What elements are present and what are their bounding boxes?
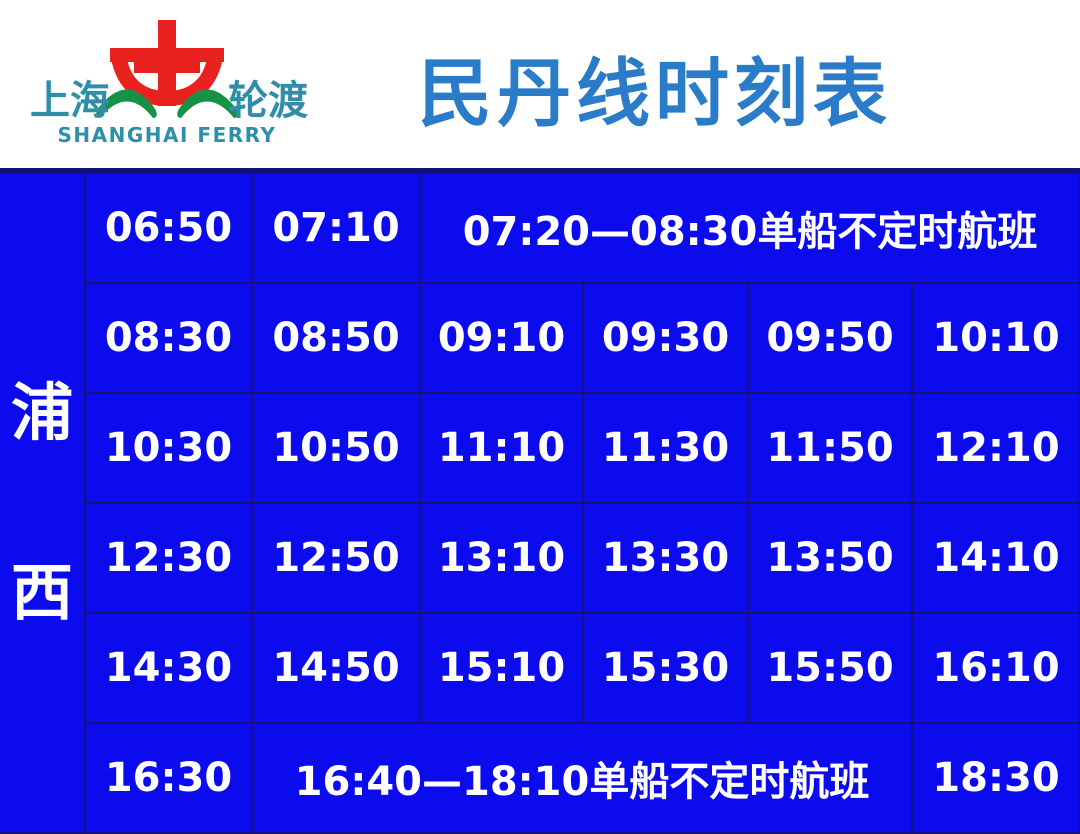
departure-time-cell: 14:50 — [252, 613, 420, 723]
departure-time-cell: 13:30 — [583, 503, 748, 613]
departure-time-cell: 06:50 — [85, 173, 252, 283]
departure-time-cell: 12:30 — [85, 503, 252, 613]
departure-time-cell: 11:10 — [420, 393, 583, 503]
direction-label: 浦西 — [0, 193, 84, 813]
table-row: 16:3016:40—18:10单船不定时航班18:30 — [0, 723, 1080, 833]
departure-time-cell: 16:10 — [912, 613, 1080, 723]
table-row: 浦西06:5007:1007:20—08:30单船不定时航班 — [0, 173, 1080, 283]
logo-text-ferry: 轮渡 — [228, 78, 308, 124]
departure-time-cell: 14:10 — [912, 503, 1080, 613]
departure-time-cell: 15:50 — [748, 613, 912, 723]
departure-time-cell: 10:50 — [252, 393, 420, 503]
departure-time-cell: 10:10 — [912, 283, 1080, 393]
departure-time-cell: 11:30 — [583, 393, 748, 503]
logo-text-english: SHANGHAI FERRY — [58, 123, 277, 147]
departure-time-cell: 15:10 — [420, 613, 583, 723]
departure-time-cell: 16:30 — [85, 723, 252, 833]
ferry-timetable: 浦西06:5007:1007:20—08:30单船不定时航班08:3008:50… — [0, 172, 1080, 834]
shanghai-ferry-logo: 上海 轮渡 SHANGHAI FERRY — [22, 14, 312, 154]
logo-text-shanghai: 上海 — [30, 78, 110, 124]
direction-char: 西 — [11, 562, 73, 624]
table-row: 14:3014:5015:1015:3015:5016:10 — [0, 613, 1080, 723]
departure-time-cell: 09:50 — [748, 283, 912, 393]
departure-time-cell: 09:10 — [420, 283, 583, 393]
departure-time-cell: 11:50 — [748, 393, 912, 503]
departure-time-cell: 08:50 — [252, 283, 420, 393]
departure-time-cell: 09:30 — [583, 283, 748, 393]
departure-time-cell: 12:10 — [912, 393, 1080, 503]
departure-time-cell: 13:10 — [420, 503, 583, 613]
ferry-logo-icon: 上海 轮渡 SHANGHAI FERRY — [22, 14, 312, 154]
timetable-container: 浦西06:5007:1007:20—08:30单船不定时航班08:3008:50… — [0, 168, 1080, 810]
departure-time-cell: 07:10 — [252, 173, 420, 283]
departure-time-cell: 12:50 — [252, 503, 420, 613]
departure-time-cell: 08:30 — [85, 283, 252, 393]
table-row: 10:3010:5011:1011:3011:5012:10 — [0, 393, 1080, 503]
direction-char: 浦 — [11, 382, 73, 444]
departure-time-cell: 18:30 — [912, 723, 1080, 833]
table-row: 12:3012:5013:1013:3013:5014:10 — [0, 503, 1080, 613]
table-row: 08:3008:5009:1009:3009:5010:10 — [0, 283, 1080, 393]
direction-label-cell: 浦西 — [0, 173, 85, 833]
departure-time-cell: 10:30 — [85, 393, 252, 503]
departure-time-cell: 15:30 — [583, 613, 748, 723]
departure-time-cell: 13:50 — [748, 503, 912, 613]
schedule-note-cell: 16:40—18:10单船不定时航班 — [252, 723, 912, 833]
page-title: 民丹线时刻表 — [418, 44, 918, 144]
page-header: 上海 轮渡 SHANGHAI FERRY 民丹线时刻表 — [0, 0, 1080, 168]
departure-time-cell: 14:30 — [85, 613, 252, 723]
schedule-note-cell: 07:20—08:30单船不定时航班 — [420, 173, 1080, 283]
